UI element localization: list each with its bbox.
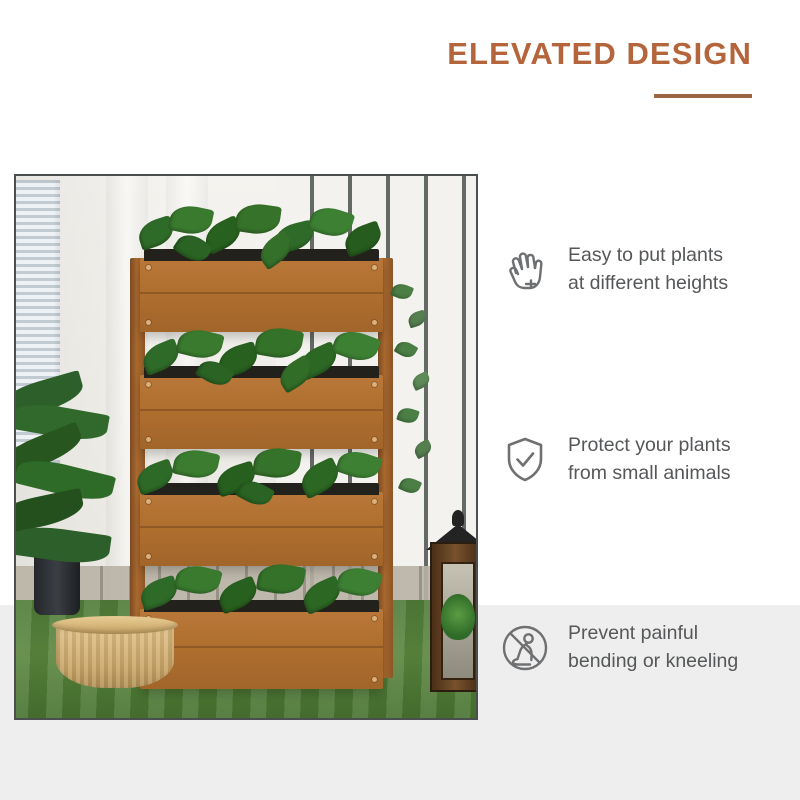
product-photo [14, 174, 478, 720]
feature-item: Protect your plants from small animals [496, 430, 731, 490]
palm-frond [16, 522, 112, 568]
soil-bed [144, 483, 379, 495]
screw-icon [372, 677, 377, 682]
palm-plant [16, 381, 126, 641]
no-kneeling-icon [496, 618, 554, 678]
title-underline-rule [654, 94, 752, 98]
screw-icon [146, 320, 151, 325]
product-feature-page: ELEVATED DESIGN [0, 0, 800, 800]
soil-bed [144, 249, 379, 261]
page-title: ELEVATED DESIGN [447, 36, 752, 72]
basket-rim [52, 616, 178, 634]
screw-icon [146, 437, 151, 442]
screw-icon [372, 616, 377, 621]
trailing-vine [382, 278, 452, 608]
screw-icon [372, 437, 377, 442]
feature-label: Prevent painful bending or kneeling [568, 620, 738, 675]
lantern-finial [452, 510, 464, 526]
feature-label: Easy to put plants at different heights [568, 242, 728, 297]
planter-tier [140, 258, 383, 332]
screw-icon [372, 320, 377, 325]
planter-tier [140, 609, 383, 689]
feature-item: Prevent painful bending or kneeling [496, 618, 738, 678]
screw-icon [372, 382, 377, 387]
shield-check-icon [496, 430, 554, 490]
feature-item: Easy to put plants at different heights [496, 240, 728, 300]
screw-icon [372, 265, 377, 270]
feature-label: Protect your plants from small animals [568, 432, 731, 487]
vertical-planter [134, 258, 389, 678]
planter-tier [140, 492, 383, 566]
planter-tier [140, 375, 383, 449]
photo-scene [16, 176, 476, 718]
screw-icon [146, 265, 151, 270]
screw-icon [146, 554, 151, 559]
woven-basket [56, 622, 174, 688]
screw-icon [372, 499, 377, 504]
soil-bed [144, 600, 379, 612]
screw-icon [146, 499, 151, 504]
gardening-glove-icon [496, 240, 554, 300]
soil-bed [144, 366, 379, 378]
screw-icon [146, 382, 151, 387]
screw-icon [372, 554, 377, 559]
